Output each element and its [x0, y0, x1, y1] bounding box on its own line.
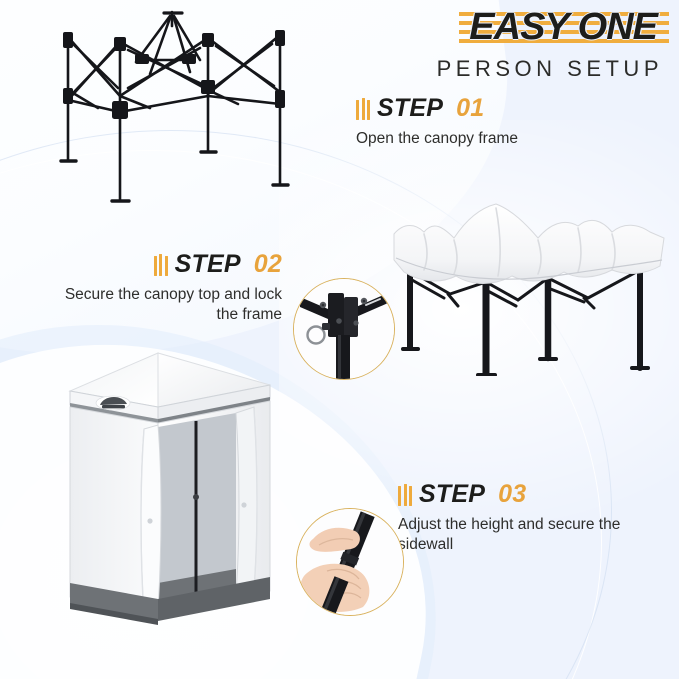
- step-01-number: 01: [456, 96, 484, 121]
- step-02-description: Secure the canopy top and lock the frame: [50, 285, 282, 326]
- headline-title: EASY ONE: [469, 6, 657, 48]
- step-03-description: Adjust the height and secure the sidewal…: [398, 515, 630, 556]
- three-bars-icon: [398, 484, 412, 506]
- step-01-heading: STEP 01: [356, 96, 518, 121]
- step-01-block: STEP 01 Open the canopy frame: [356, 96, 518, 149]
- three-bars-icon: [356, 98, 370, 120]
- step-02-word: STEP: [175, 252, 241, 277]
- step-02-number: 02: [254, 252, 282, 277]
- canopy-frame-illustration: [32, 4, 332, 204]
- inset-hand-adjust-leg: [296, 508, 404, 616]
- privacy-tent-illustration: [58, 345, 298, 650]
- step-03-word: STEP: [419, 482, 485, 507]
- step-01-description: Open the canopy frame: [356, 129, 518, 149]
- three-bars-icon: [154, 254, 168, 276]
- step-01-word: STEP: [377, 96, 443, 121]
- step-03-number: 03: [498, 482, 526, 507]
- step-03-block: STEP 03 Adjust the height and secure the…: [398, 482, 630, 556]
- headline-subtitle: PERSON SETUP: [437, 56, 665, 82]
- canopy-top-illustration: [388, 198, 673, 376]
- headline-block: EASY ONE PERSON SETUP: [437, 6, 665, 82]
- step-03-heading: STEP 03: [398, 482, 630, 507]
- step-02-block: STEP 02 Secure the canopy top and lock t…: [50, 252, 282, 326]
- infographic-page: EASY ONE PERSON SETUP STEP 01 Open the c…: [0, 0, 679, 679]
- step-02-heading: STEP 02: [50, 252, 282, 277]
- headline-main-wrap: EASY ONE: [459, 6, 665, 49]
- brand-logo: [96, 396, 130, 410]
- inset-frame-lock: [293, 278, 395, 380]
